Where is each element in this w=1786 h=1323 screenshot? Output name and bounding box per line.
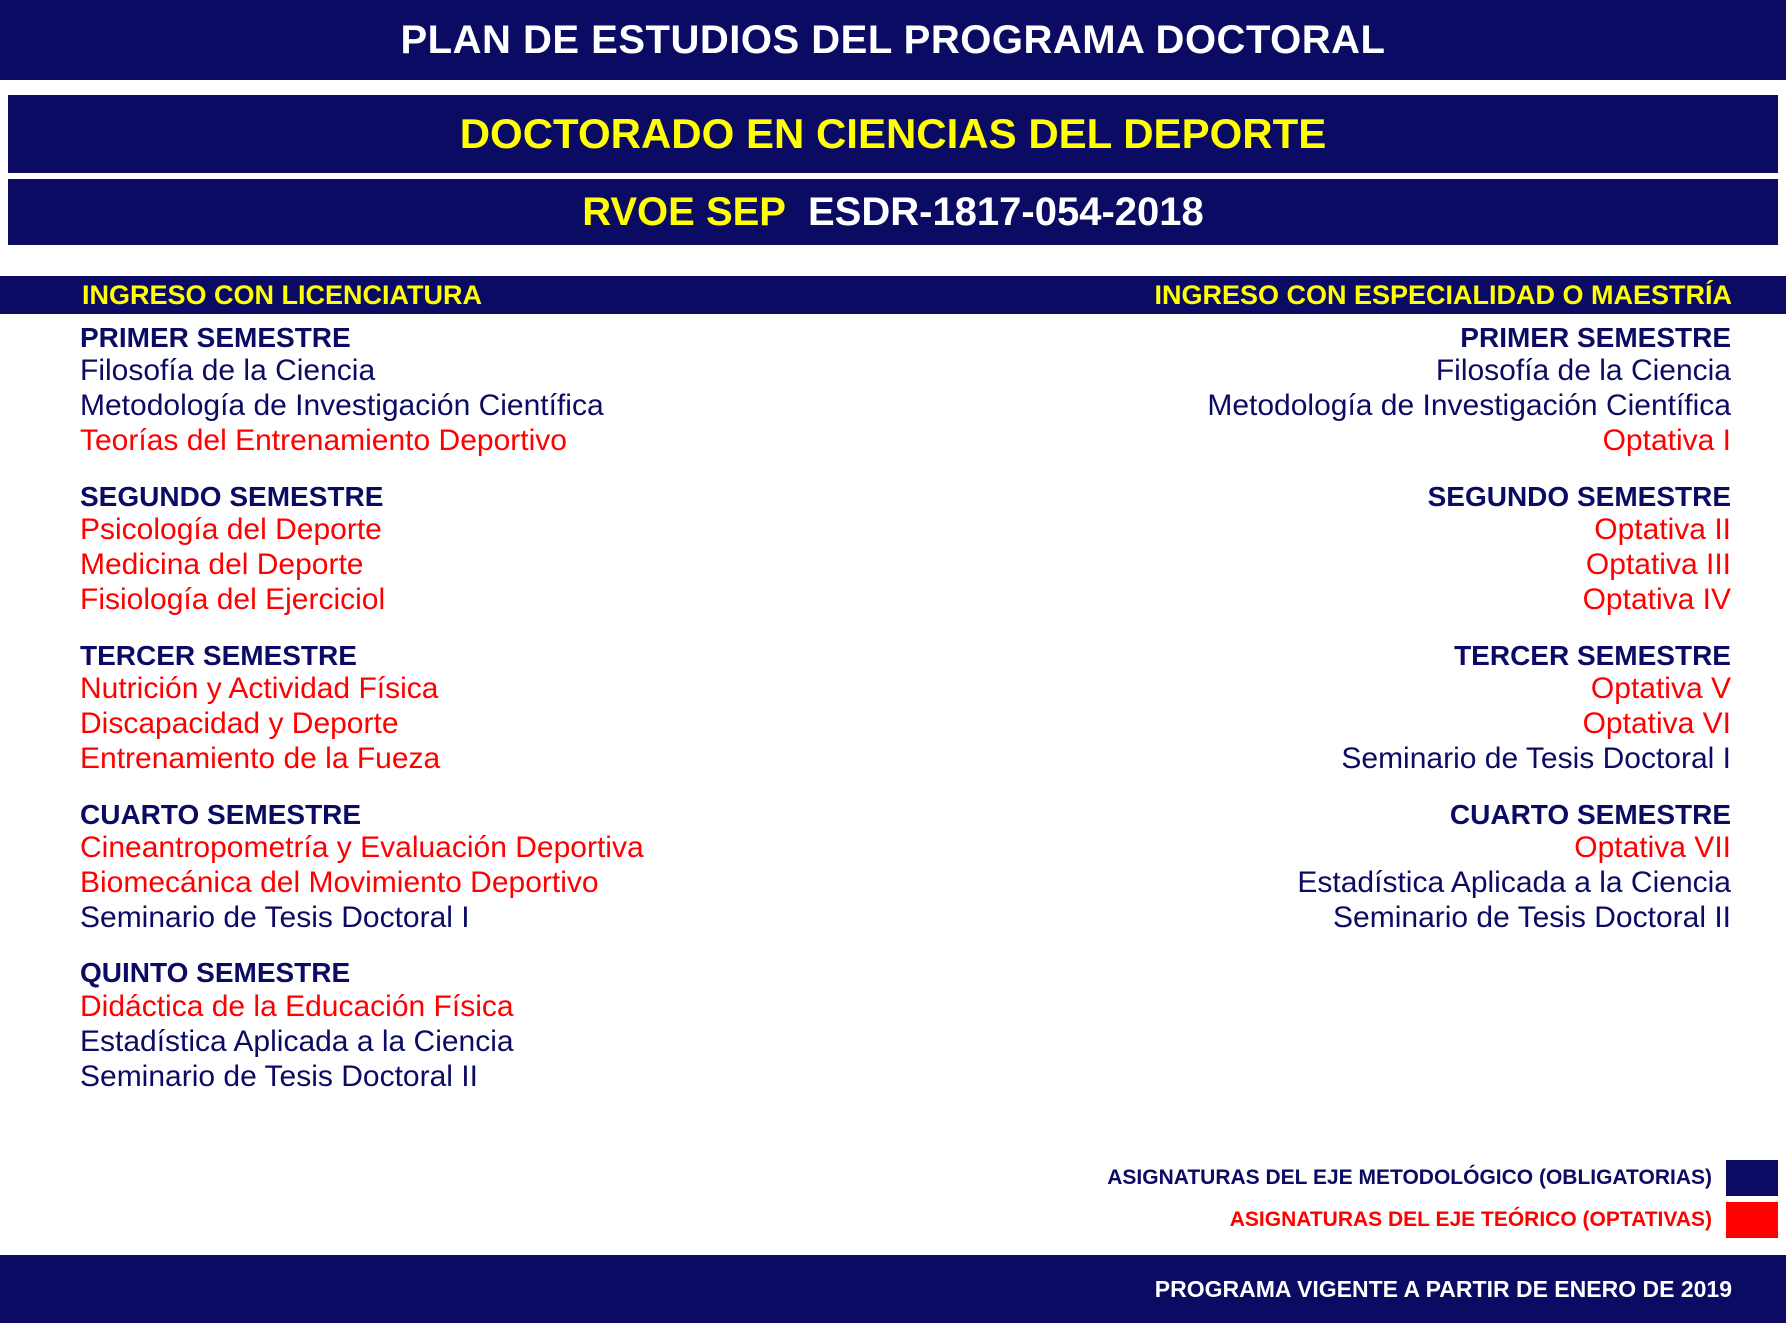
semester-title: SEGUNDO SEMESTRE: [893, 481, 1731, 513]
semester-title: SEGUNDO SEMESTRE: [80, 481, 893, 513]
semester-block: SEGUNDO SEMESTREOptativa IIOptativa IIIO…: [893, 481, 1731, 618]
semester-title: PRIMER SEMESTRE: [893, 322, 1731, 354]
rvoe-bar: RVOE SEP ESDR-1817-054-2018: [8, 179, 1778, 245]
course-item: Nutrición y Actividad Física: [80, 672, 893, 707]
semester-title: TERCER SEMESTRE: [893, 640, 1731, 672]
semester-block: CUARTO SEMESTREOptativa VIIEstadística A…: [893, 799, 1731, 936]
footer-bar: PROGRAMA VIGENTE A PARTIR DE ENERO DE 20…: [0, 1255, 1786, 1323]
semester-block: PRIMER SEMESTREFilosofía de la CienciaMe…: [80, 322, 893, 459]
semester-block: PRIMER SEMESTREFilosofía de la CienciaMe…: [893, 322, 1731, 459]
curriculum-columns: PRIMER SEMESTREFilosofía de la CienciaMe…: [0, 322, 1786, 1112]
column-header-right: INGRESO CON ESPECIALIDAD O MAESTRÍA: [893, 276, 1786, 314]
footer-note: PROGRAMA VIGENTE A PARTIR DE ENERO DE 20…: [1155, 1276, 1732, 1303]
course-item: Estadística Aplicada a la Ciencia: [80, 1025, 893, 1060]
column-header-left: INGRESO CON LICENCIATURA: [0, 276, 893, 314]
curriculum-column-maestria: PRIMER SEMESTREFilosofía de la CienciaMe…: [893, 322, 1786, 1112]
semester-title: CUARTO SEMESTRE: [80, 799, 893, 831]
column-header-right-label: INGRESO CON ESPECIALIDAD O MAESTRÍA: [1154, 280, 1732, 311]
course-item: Optativa IV: [893, 583, 1731, 618]
legend-color-swatch: [1726, 1202, 1778, 1238]
semester-title: CUARTO SEMESTRE: [893, 799, 1731, 831]
course-item: Metodología de Investigación Científica: [893, 389, 1731, 424]
column-header-left-label: INGRESO CON LICENCIATURA: [82, 280, 482, 311]
course-item: Didáctica de la Educación Física: [80, 990, 893, 1025]
title-bar: PLAN DE ESTUDIOS DEL PROGRAMA DOCTORAL: [0, 0, 1786, 80]
course-item: Seminario de Tesis Doctoral II: [80, 1060, 893, 1095]
course-item: Estadística Aplicada a la Ciencia: [893, 866, 1731, 901]
legend: ASIGNATURAS DEL EJE METODOLÓGICO (OBLIGA…: [1107, 1160, 1778, 1238]
semester-block: TERCER SEMESTRENutrición y Actividad Fís…: [80, 640, 893, 777]
semester-block: TERCER SEMESTREOptativa VOptativa VISemi…: [893, 640, 1731, 777]
course-item: Optativa I: [893, 424, 1731, 459]
semester-title: QUINTO SEMESTRE: [80, 957, 893, 989]
course-item: Optativa III: [893, 548, 1731, 583]
semester-block: SEGUNDO SEMESTREPsicología del DeporteMe…: [80, 481, 893, 618]
program-name-bar: DOCTORADO EN CIENCIAS DEL DEPORTE: [8, 95, 1778, 173]
course-item: Optativa VI: [893, 707, 1731, 742]
course-item: Medicina del Deporte: [80, 548, 893, 583]
course-item: Seminario de Tesis Doctoral I: [80, 901, 893, 936]
rvoe-code: ESDR-1817-054-2018: [808, 190, 1204, 235]
course-item: Optativa II: [893, 513, 1731, 548]
semester-title: PRIMER SEMESTRE: [80, 322, 893, 354]
legend-label: ASIGNATURAS DEL EJE METODOLÓGICO (OBLIGA…: [1107, 1166, 1712, 1190]
page-title: PLAN DE ESTUDIOS DEL PROGRAMA DOCTORAL: [401, 18, 1386, 63]
course-item: Biomecánica del Movimiento Deportivo: [80, 866, 893, 901]
course-item: Teorías del Entrenamiento Deportivo: [80, 424, 893, 459]
course-item: Entrenamiento de la Fueza: [80, 742, 893, 777]
course-item: Filosofía de la Ciencia: [80, 354, 893, 389]
course-item: Seminario de Tesis Doctoral II: [893, 901, 1731, 936]
course-item: Discapacidad y Deporte: [80, 707, 893, 742]
semester-block: QUINTO SEMESTREDidáctica de la Educación…: [80, 957, 893, 1094]
course-item: Seminario de Tesis Doctoral I: [893, 742, 1731, 777]
legend-label: ASIGNATURAS DEL EJE TEÓRICO (OPTATIVAS): [1230, 1208, 1712, 1232]
column-headers-bar: INGRESO CON LICENCIATURA INGRESO CON ESP…: [0, 276, 1786, 314]
program-name: DOCTORADO EN CIENCIAS DEL DEPORTE: [460, 110, 1327, 158]
course-item: Optativa VII: [893, 831, 1731, 866]
plan-de-estudios-poster: PLAN DE ESTUDIOS DEL PROGRAMA DOCTORAL D…: [0, 0, 1786, 1323]
rvoe-label: RVOE SEP: [582, 190, 786, 235]
legend-color-swatch: [1726, 1160, 1778, 1196]
course-item: Psicología del Deporte: [80, 513, 893, 548]
legend-row: ASIGNATURAS DEL EJE TEÓRICO (OPTATIVAS): [1107, 1202, 1778, 1238]
course-item: Optativa V: [893, 672, 1731, 707]
course-item: Metodología de Investigación Científica: [80, 389, 893, 424]
semester-block: CUARTO SEMESTRECineantropometría y Evalu…: [80, 799, 893, 936]
curriculum-column-licenciatura: PRIMER SEMESTREFilosofía de la CienciaMe…: [0, 322, 893, 1112]
semester-title: TERCER SEMESTRE: [80, 640, 893, 672]
course-item: Fisiología del Ejerciciol: [80, 583, 893, 618]
course-item: Filosofía de la Ciencia: [893, 354, 1731, 389]
course-item: Cineantropometría y Evaluación Deportiva: [80, 831, 893, 866]
legend-row: ASIGNATURAS DEL EJE METODOLÓGICO (OBLIGA…: [1107, 1160, 1778, 1196]
